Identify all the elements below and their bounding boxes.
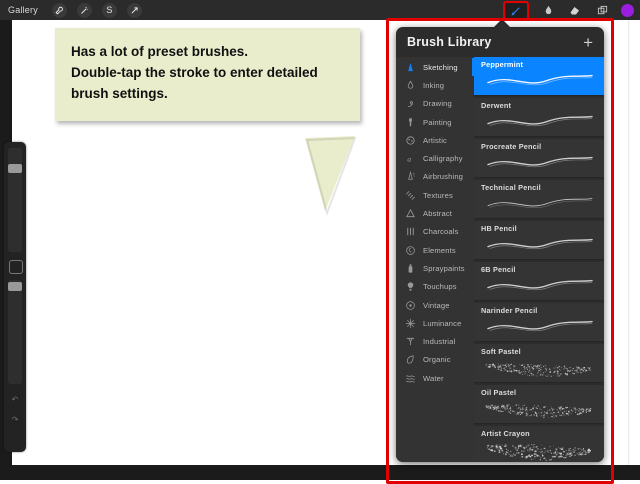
brush-preset-name: Technical Pencil (481, 183, 541, 192)
brush-preset-name: HB Pencil (481, 224, 517, 233)
brush-category-sketching[interactable]: Sketching (396, 58, 474, 76)
calligraphy-icon: a (404, 152, 417, 165)
brush-stroke-preview (474, 65, 604, 95)
inking-icon (404, 79, 417, 92)
brush-category-label: Calligraphy (423, 154, 463, 163)
brush-category-label: Drawing (423, 99, 452, 108)
brush-preset-row[interactable]: Soft Pastel (474, 344, 604, 383)
add-brush-button[interactable]: + (583, 34, 593, 51)
brush-category-label: Touchups (423, 282, 457, 291)
painting-icon (404, 116, 417, 129)
drawing-icon (404, 97, 417, 110)
organic-icon (404, 353, 417, 366)
brush-preset-row[interactable]: HB Pencil (474, 221, 604, 260)
adjustments-wand-icon[interactable] (77, 3, 92, 18)
brush-category-label: Water (423, 374, 444, 383)
brush-preset-name: Procreate Pencil (481, 142, 541, 151)
brush-category-spraypaints[interactable]: Spraypaints (396, 259, 474, 277)
brush-preset-row[interactable]: Derwent (474, 98, 604, 137)
brush-category-label: Industrial (423, 337, 455, 346)
brush-stroke-preview (474, 352, 604, 382)
brush-category-industrial[interactable]: Industrial (396, 332, 474, 350)
water-icon (404, 372, 417, 385)
brush-category-label: Painting (423, 118, 452, 127)
brush-category-airbrushing[interactable]: Airbrushing (396, 168, 474, 186)
gallery-button[interactable]: Gallery (8, 5, 38, 15)
brush-preset-list[interactable]: PeppermintDerwentProcreate PencilTechnic… (474, 57, 604, 462)
brush-category-drawing[interactable]: Drawing (396, 95, 474, 113)
brush-category-label: Abstract (423, 209, 452, 218)
selection-s-icon[interactable]: S (102, 3, 117, 18)
brush-category-label: Charcoals (423, 227, 459, 236)
brush-category-textures[interactable]: Textures (396, 186, 474, 204)
brush-stroke-preview (474, 270, 604, 300)
brush-preset-name: 6B Pencil (481, 265, 516, 274)
spraypaints-icon (404, 262, 417, 275)
brush-preset-name: Oil Pastel (481, 388, 516, 397)
eraser-icon[interactable] (567, 2, 583, 18)
brush-category-label: Luminance (423, 319, 462, 328)
transform-arrow-icon[interactable] (127, 3, 142, 18)
redo-button[interactable]: ↷ (9, 414, 21, 426)
brush-stroke-preview (474, 311, 604, 341)
vintage-icon (404, 299, 417, 312)
callout-bubble: Has a lot of preset brushes. Double-tap … (55, 28, 360, 121)
brush-category-label: Artistic (423, 136, 447, 145)
brush-icon[interactable] (503, 1, 529, 20)
brush-category-vintage[interactable]: Vintage (396, 296, 474, 314)
top-toolbar: Gallery S (0, 0, 640, 20)
callout-text: Has a lot of preset brushes. Double-tap … (71, 42, 344, 105)
opacity-thumb[interactable] (8, 282, 22, 291)
brush-category-calligraphy[interactable]: aCalligraphy (396, 149, 474, 167)
luminance-icon (404, 317, 417, 330)
brush-size-thumb[interactable] (8, 164, 22, 173)
brush-preset-name: Peppermint (481, 60, 523, 69)
brush-stroke-preview (474, 106, 604, 136)
brush-category-label: Vintage (423, 301, 450, 310)
brush-category-organic[interactable]: Organic (396, 351, 474, 369)
brush-stroke-preview (474, 147, 604, 177)
opacity-slider[interactable] (8, 280, 22, 384)
brush-category-list: SketchingInkingDrawingPaintingArtisticaC… (396, 57, 474, 462)
svg-text:a: a (407, 154, 411, 163)
brush-stroke-preview (474, 393, 604, 423)
brush-preset-row[interactable]: Narinder Pencil (474, 303, 604, 342)
brush-library-body: SketchingInkingDrawingPaintingArtisticaC… (396, 57, 604, 462)
annotation-callout: Has a lot of preset brushes. Double-tap … (55, 28, 360, 121)
brush-preset-row[interactable]: Procreate Pencil (474, 139, 604, 178)
artistic-icon (404, 134, 417, 147)
brush-preset-name: Derwent (481, 101, 511, 110)
popover-arrow (493, 19, 511, 28)
elements-icon (404, 244, 417, 257)
modify-button[interactable] (9, 260, 23, 274)
sidebar-controls: ↶ ↷ (4, 142, 26, 452)
brush-category-touchups[interactable]: Touchups (396, 278, 474, 296)
industrial-icon (404, 335, 417, 348)
brush-category-abstract[interactable]: Abstract (396, 204, 474, 222)
charcoals-icon (404, 225, 417, 238)
brush-category-elements[interactable]: Elements (396, 241, 474, 259)
color-swatch[interactable] (621, 4, 634, 17)
brush-preset-name: Soft Pastel (481, 347, 521, 356)
brush-category-inking[interactable]: Inking (396, 76, 474, 94)
brush-preset-row[interactable]: Technical Pencil (474, 180, 604, 219)
touchups-icon (404, 280, 417, 293)
brush-category-label: Elements (423, 246, 456, 255)
brush-category-label: Textures (423, 191, 453, 200)
brush-category-charcoals[interactable]: Charcoals (396, 223, 474, 241)
brush-stroke-preview (474, 434, 604, 462)
procreate-app: ↶ ↷ Gallery S (0, 0, 640, 480)
brush-category-painting[interactable]: Painting (396, 113, 474, 131)
brush-preset-row[interactable]: Peppermint (474, 57, 604, 96)
brush-preset-name: Narinder Pencil (481, 306, 538, 315)
brush-preset-name: Artist Crayon (481, 429, 530, 438)
brush-category-label: Spraypaints (423, 264, 465, 273)
layers-icon[interactable] (594, 2, 610, 18)
brush-library-panel: Brush Library + SketchingInkingDrawingPa… (396, 27, 604, 462)
brush-preset-row[interactable]: Artist Crayon (474, 426, 604, 462)
undo-button[interactable]: ↶ (9, 394, 21, 406)
abstract-icon (404, 207, 417, 220)
brush-preset-row[interactable]: 6B Pencil (474, 262, 604, 301)
brush-category-water[interactable]: Water (396, 369, 474, 387)
canvas-bottom-gutter (0, 465, 640, 480)
brush-stroke-preview (474, 229, 604, 259)
brush-library-header: Brush Library + (396, 27, 604, 57)
brush-category-label: Organic (423, 355, 451, 364)
smudge-icon[interactable] (540, 2, 556, 18)
actions-wrench-icon[interactable] (52, 3, 67, 18)
sketching-icon (404, 61, 417, 74)
brush-stroke-preview (474, 188, 604, 218)
left-tool-group: S (52, 3, 142, 18)
brush-category-luminance[interactable]: Luminance (396, 314, 474, 332)
right-tool-group (503, 0, 634, 20)
brush-category-artistic[interactable]: Artistic (396, 131, 474, 149)
brush-category-label: Sketching (423, 63, 458, 72)
brush-preset-row[interactable]: Oil Pastel (474, 385, 604, 424)
brush-library-title: Brush Library (407, 35, 492, 49)
airbrushing-icon (404, 170, 417, 183)
brush-category-label: Airbrushing (423, 172, 463, 181)
brush-category-label: Inking (423, 81, 444, 90)
textures-icon (404, 189, 417, 202)
